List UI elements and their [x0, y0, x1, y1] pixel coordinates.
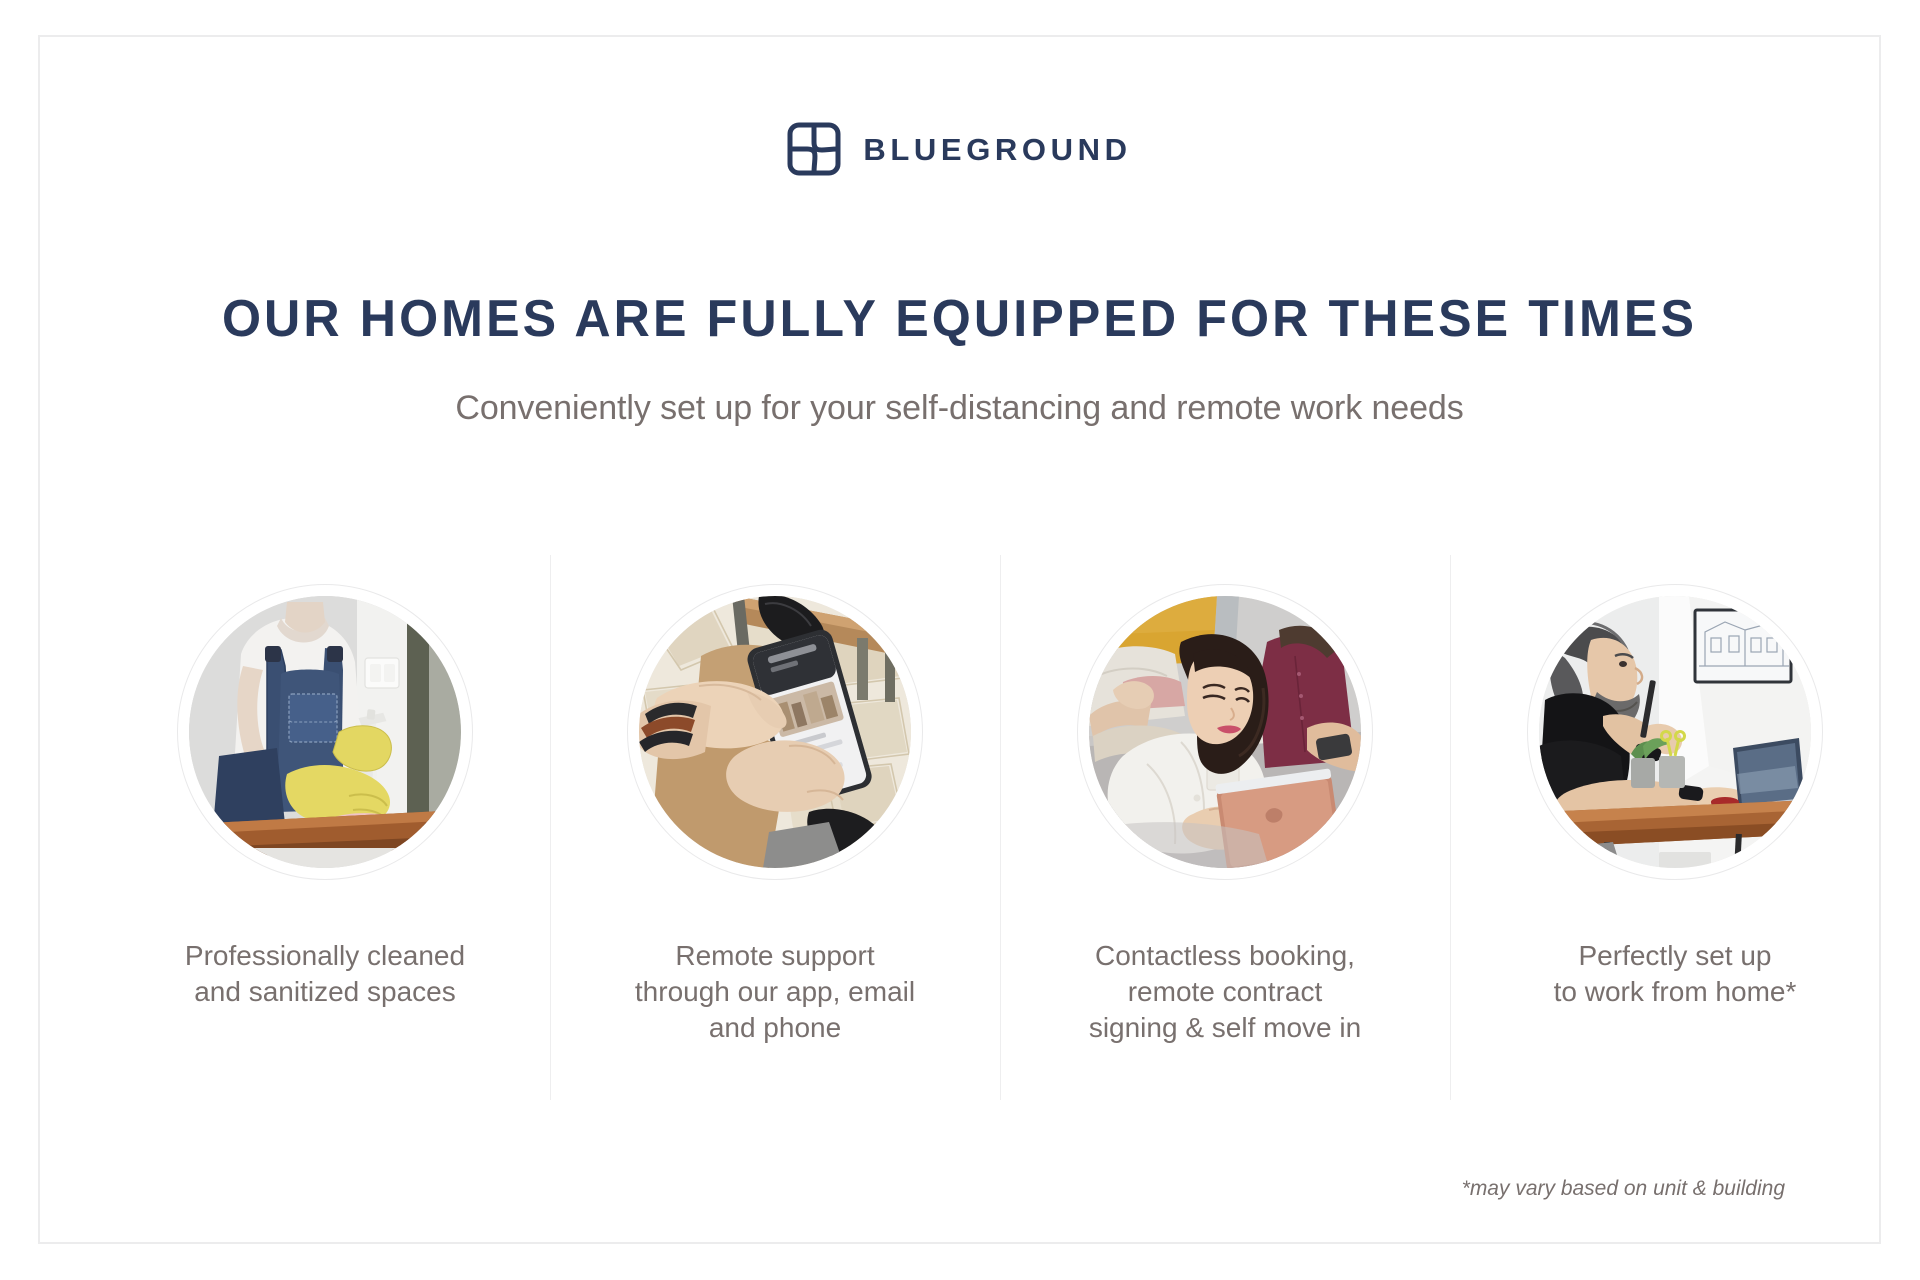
feature-image-ring	[627, 584, 923, 880]
caption-line: signing & self move in	[1089, 1010, 1361, 1046]
feature-caption: Professionally cleaned and sanitized spa…	[185, 938, 465, 1010]
feature-image-ring	[1077, 584, 1373, 880]
feature-photo-cleaning	[189, 596, 461, 868]
caption-line: Perfectly set up	[1554, 938, 1797, 974]
feature-column-contactless-booking: Contactless booking, remote contract sig…	[1000, 555, 1450, 1100]
feature-photo-desk	[1539, 596, 1811, 868]
feature-photo-phone	[639, 596, 911, 868]
footnote-disclaimer: *may vary based on unit & building	[1462, 1177, 1785, 1201]
feature-caption: Perfectly set up to work from home*	[1554, 938, 1797, 1010]
feature-column-cleaning: Professionally cleaned and sanitized spa…	[100, 555, 550, 1100]
feature-caption: Remote support through our app, email an…	[635, 938, 915, 1045]
caption-line: and phone	[635, 1010, 915, 1046]
caption-line: Contactless booking,	[1089, 938, 1361, 974]
blueground-square-mark-icon	[787, 122, 841, 176]
caption-line: through our app, email	[635, 974, 915, 1010]
feature-image-ring	[1527, 584, 1823, 880]
page-title: OUR HOMES ARE FULLY EQUIPPED FOR THESE T…	[72, 289, 1847, 349]
feature-columns: Professionally cleaned and sanitized spa…	[100, 555, 1900, 1100]
caption-line: Professionally cleaned	[185, 938, 465, 974]
feature-column-remote-support: Remote support through our app, email an…	[550, 555, 1000, 1100]
feature-column-work-from-home: Perfectly set up to work from home*	[1450, 555, 1900, 1100]
caption-line: and sanitized spaces	[185, 974, 465, 1010]
feature-photo-tablet	[1089, 596, 1361, 868]
feature-caption: Contactless booking, remote contract sig…	[1089, 938, 1361, 1045]
caption-line: remote contract	[1089, 974, 1361, 1010]
caption-line: Remote support	[635, 938, 915, 974]
brand-wordmark: BLUEGROUND	[863, 134, 1131, 165]
page-subtitle: Conveniently set up for your self-distan…	[40, 389, 1879, 428]
caption-line: to work from home*	[1554, 974, 1797, 1010]
poster-frame: BLUEGROUND OUR HOMES ARE FULLY EQUIPPED …	[38, 35, 1881, 1244]
brand-logo: BLUEGROUND	[40, 122, 1879, 176]
feature-image-ring	[177, 584, 473, 880]
poster-canvas: BLUEGROUND OUR HOMES ARE FULLY EQUIPPED …	[0, 0, 1920, 1280]
